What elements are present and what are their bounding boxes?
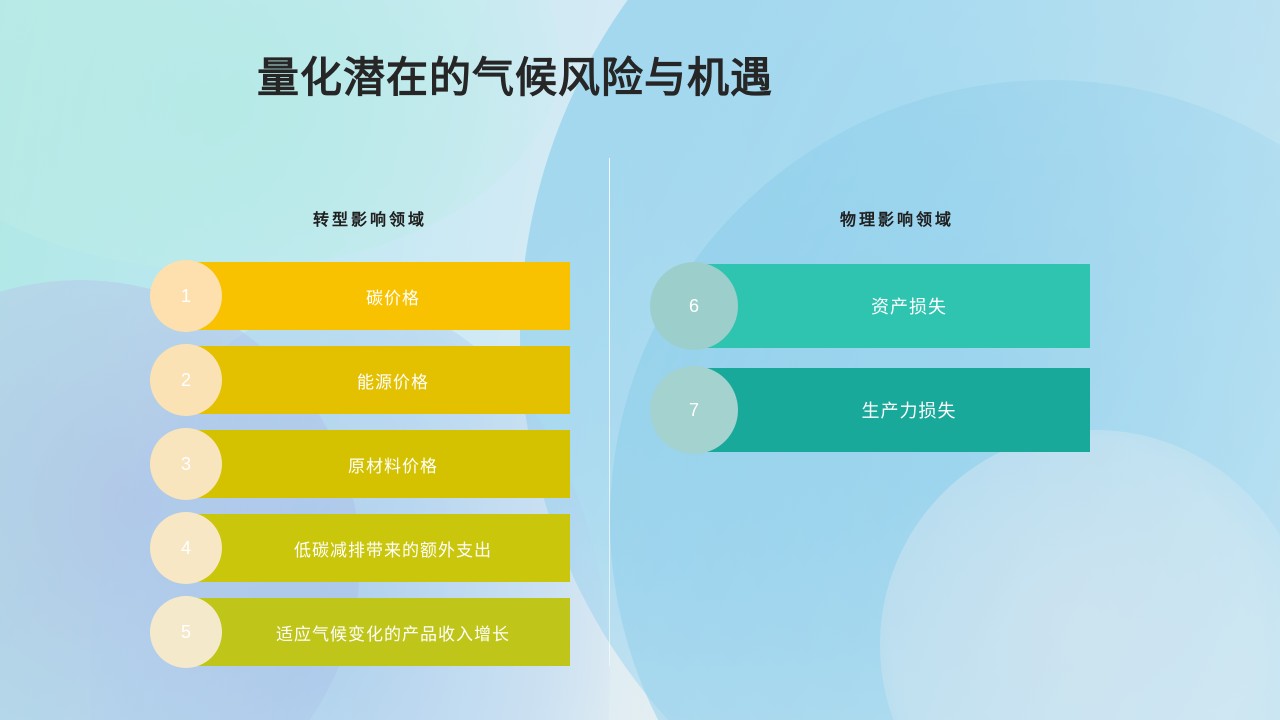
item-number-badge: 5 [150, 596, 222, 668]
item-number-badge: 7 [650, 366, 738, 454]
item-label: 适应气候变化的产品收入增长 [186, 620, 570, 645]
item-label: 生产力损失 [694, 397, 1090, 423]
list-item[interactable]: 原材料价格 3 [150, 422, 590, 506]
item-label: 能源价格 [186, 368, 570, 393]
item-bar: 能源价格 [186, 346, 570, 414]
physical-impact-column: 物理影响领域 资产损失 6 生产力损失 7 [650, 206, 1090, 462]
page-title: 量化潜在的气候风险与机遇 [0, 44, 1030, 105]
list-item[interactable]: 生产力损失 7 [650, 358, 1090, 462]
item-label: 原材料价格 [186, 452, 570, 477]
column-divider [609, 158, 610, 666]
item-bar: 原材料价格 [186, 430, 570, 498]
item-bar: 低碳减排带来的额外支出 [186, 514, 570, 582]
item-bar: 适应气候变化的产品收入增长 [186, 598, 570, 666]
list-item[interactable]: 适应气候变化的产品收入增长 5 [150, 590, 590, 674]
item-number-badge: 1 [150, 260, 222, 332]
column-heading-transition: 转型影响领域 [150, 206, 590, 230]
item-label: 低碳减排带来的额外支出 [186, 536, 570, 561]
transition-impact-column: 转型影响领域 碳价格 1 能源价格 2 原材料价格 3 低碳减排带来的额外支出 … [150, 206, 590, 674]
list-item[interactable]: 低碳减排带来的额外支出 4 [150, 506, 590, 590]
item-number-badge: 4 [150, 512, 222, 584]
item-bar: 生产力损失 [694, 368, 1090, 452]
list-item[interactable]: 碳价格 1 [150, 254, 590, 338]
list-item[interactable]: 资产损失 6 [650, 254, 1090, 358]
list-item[interactable]: 能源价格 2 [150, 338, 590, 422]
item-number-badge: 3 [150, 428, 222, 500]
item-bar: 碳价格 [186, 262, 570, 330]
item-bar: 资产损失 [694, 264, 1090, 348]
item-label: 碳价格 [186, 284, 570, 309]
item-label: 资产损失 [694, 293, 1090, 319]
slide: 量化潜在的气候风险与机遇 转型影响领域 碳价格 1 能源价格 2 原材料价格 3… [0, 0, 1280, 720]
column-heading-physical: 物理影响领域 [704, 206, 1090, 230]
item-number-badge: 2 [150, 344, 222, 416]
item-number-badge: 6 [650, 262, 738, 350]
